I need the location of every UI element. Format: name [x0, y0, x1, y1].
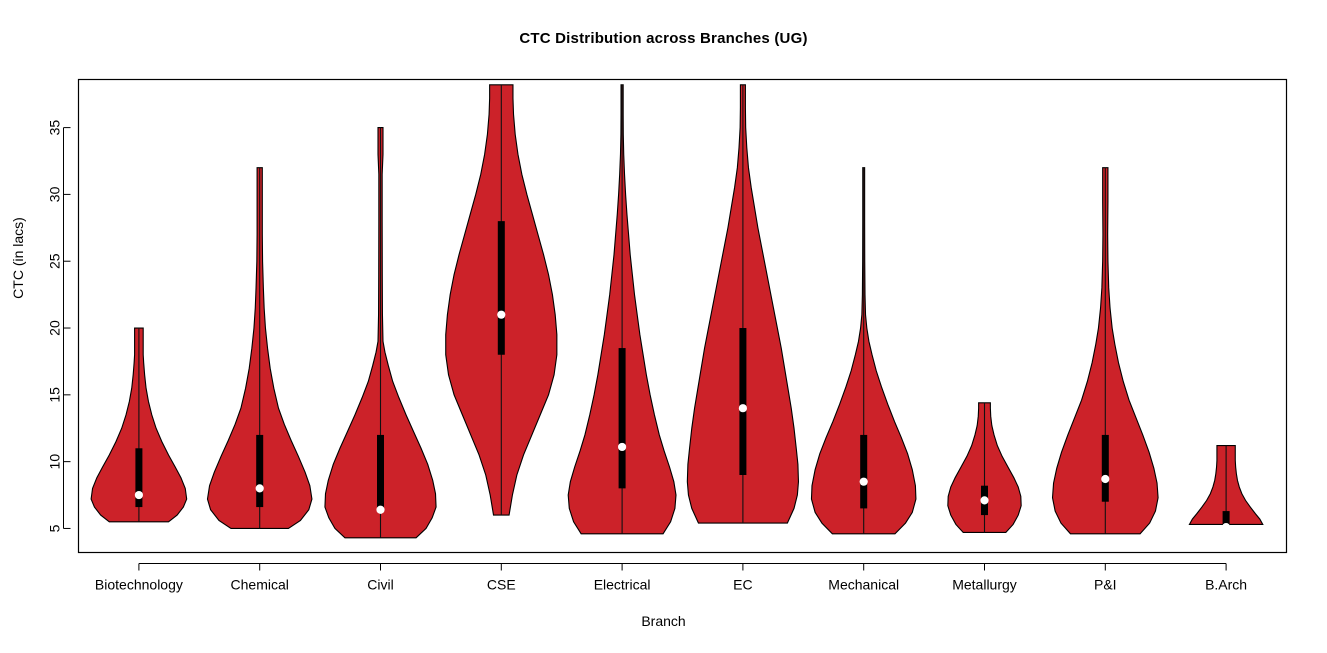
median-point: [497, 311, 505, 319]
y-tick-label: 25: [47, 253, 63, 269]
y-tick-label: 15: [47, 387, 63, 403]
x-tick-label-civil: Civil: [367, 577, 393, 593]
iqr-box: [739, 328, 746, 475]
violin-series-group: [91, 85, 1263, 538]
y-axis: 5101520253035: [47, 120, 71, 533]
violin-metallurgy: [948, 403, 1021, 533]
iqr-box: [377, 435, 384, 508]
x-tick-label-ec: EC: [733, 577, 752, 593]
median-point: [376, 506, 384, 514]
iqr-box: [860, 435, 867, 508]
median-point: [1222, 523, 1230, 531]
iqr-box: [1102, 435, 1109, 502]
x-tick-label-p-i: P&I: [1094, 577, 1117, 593]
iqr-box: [619, 348, 626, 488]
violin-civil: [325, 128, 436, 538]
violin-cse: [446, 85, 557, 515]
y-tick-label: 10: [47, 454, 63, 470]
x-tick-label-b-arch: B.Arch: [1205, 577, 1247, 593]
iqr-box: [498, 221, 505, 355]
x-tick-label-electrical: Electrical: [594, 577, 651, 593]
x-tick-label-biotechnology: Biotechnology: [95, 577, 183, 593]
x-tick-label-metallurgy: Metallurgy: [952, 577, 1017, 593]
median-point: [1101, 475, 1109, 483]
violin-electrical: [568, 85, 676, 534]
median-point: [618, 443, 626, 451]
violin-plot-canvas: 5101520253035 BiotechnologyChemicalCivil…: [0, 0, 1327, 653]
y-tick-label: 30: [47, 186, 63, 202]
violin-p-i: [1053, 168, 1159, 534]
y-tick-label: 20: [47, 320, 63, 336]
median-point: [860, 478, 868, 486]
median-point: [980, 496, 988, 504]
x-tick-label-chemical: Chemical: [231, 577, 289, 593]
chart-root: CTC Distribution across Branches (UG) CT…: [0, 0, 1327, 653]
y-tick-label: 35: [47, 120, 63, 136]
violin-chemical: [207, 168, 311, 529]
violin-ec: [687, 85, 798, 523]
median-point: [135, 491, 143, 499]
violin-biotechnology: [91, 328, 187, 522]
iqr-box: [256, 435, 263, 507]
violin-b-arch: [1189, 446, 1262, 532]
x-tick-label-cse: CSE: [487, 577, 516, 593]
median-point: [256, 484, 264, 492]
y-tick-label: 5: [47, 524, 63, 532]
median-point: [739, 404, 747, 412]
x-tick-label-mechanical: Mechanical: [828, 577, 899, 593]
x-axis: BiotechnologyChemicalCivilCSEElectricalE…: [95, 564, 1247, 593]
violin-mechanical: [811, 168, 915, 534]
